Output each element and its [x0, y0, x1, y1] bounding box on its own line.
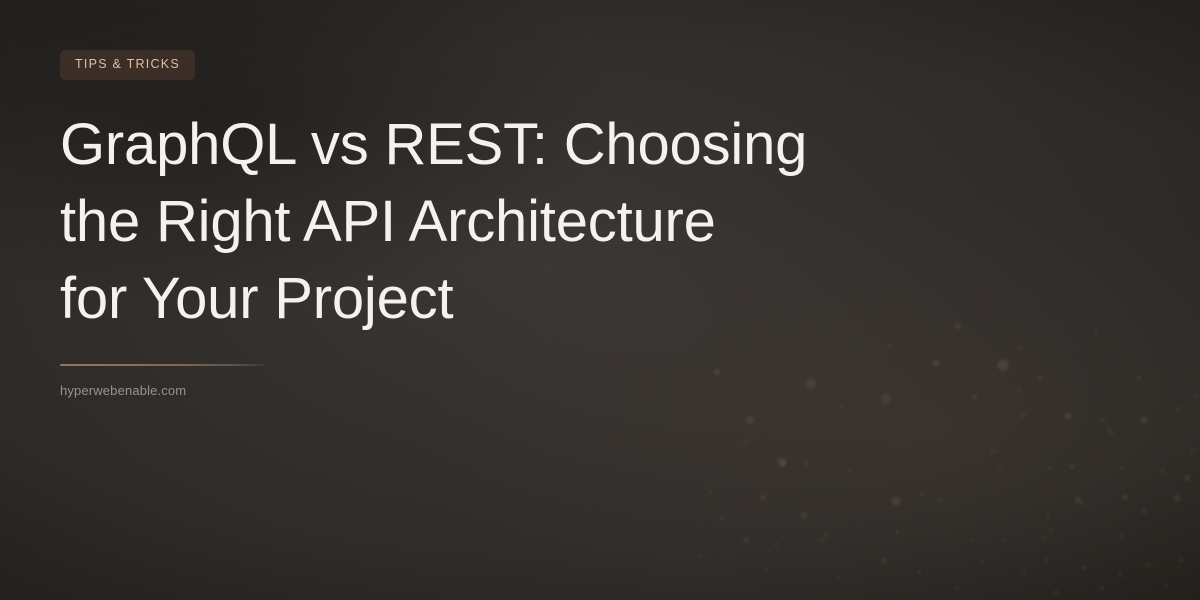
- category-badge[interactable]: TIPS & TRICKS: [60, 50, 195, 80]
- particle-dot: [1046, 513, 1050, 517]
- particle-dot: [971, 538, 975, 542]
- particle-dot: [1017, 388, 1021, 392]
- particle-dot: [1054, 590, 1058, 594]
- particle-dot: [1110, 431, 1113, 434]
- particle-dot: [917, 570, 921, 574]
- particle-dot: [895, 530, 899, 534]
- page-title-line: the Right API Architecture: [60, 183, 860, 260]
- card-content: TIPS & TRICKS GraphQL vs REST: Choosing …: [60, 0, 900, 398]
- particle-dot: [1194, 394, 1198, 398]
- particle-dot: [1141, 508, 1147, 514]
- particle-dot: [997, 359, 1008, 370]
- particle-dot: [1043, 535, 1047, 539]
- particle-dot: [1048, 466, 1052, 470]
- site-url-label: hyperwebenable.com: [60, 383, 900, 398]
- particle-dot: [746, 416, 754, 424]
- particle-dot: [1038, 376, 1042, 380]
- particle-dot: [824, 533, 829, 538]
- particle-dot: [1070, 465, 1075, 470]
- particle-dot: [804, 462, 808, 466]
- particle-dot: [1049, 529, 1053, 533]
- particle-dot: [998, 468, 1002, 472]
- particle-dot: [1065, 413, 1072, 420]
- particle-dot: [720, 516, 724, 520]
- particle-dot: [933, 360, 940, 367]
- particle-dot: [1101, 418, 1105, 422]
- particle-dot: [891, 496, 900, 505]
- accent-divider: [60, 364, 265, 366]
- particle-dot: [1118, 573, 1122, 577]
- particle-dot: [1120, 466, 1124, 470]
- particle-dot: [973, 395, 978, 400]
- particle-dot: [1137, 376, 1141, 380]
- particle-dot: [743, 537, 749, 543]
- particle-dot: [764, 568, 768, 572]
- particle-dot: [1002, 538, 1006, 542]
- particle-dot: [1191, 449, 1195, 453]
- particle-dot: [709, 490, 713, 494]
- page-title-line: GraphQL vs REST: Choosing: [60, 106, 860, 183]
- particle-dot: [801, 512, 808, 519]
- particle-dot: [1164, 584, 1168, 588]
- particle-dot: [881, 558, 887, 564]
- particle-dot: [1174, 495, 1180, 501]
- particle-dot: [1122, 494, 1128, 500]
- particle-dot: [847, 468, 851, 472]
- particle-dot: [840, 405, 844, 409]
- particle-dot: [1082, 566, 1086, 570]
- particle-dot: [1021, 413, 1026, 418]
- particle-dot: [836, 576, 840, 580]
- particle-dot: [1044, 558, 1048, 562]
- particle-dot: [1094, 330, 1098, 334]
- particle-dot: [980, 560, 984, 564]
- particle-dot: [1120, 534, 1124, 538]
- particle-dot: [1100, 586, 1104, 590]
- particle-dot: [1018, 346, 1022, 350]
- particle-dot: [1184, 475, 1190, 481]
- particle-dot: [919, 492, 923, 496]
- particle-dot: [820, 538, 824, 542]
- particle-dot: [1176, 407, 1181, 412]
- page-title-line: for Your Project: [60, 260, 860, 337]
- particle-dot: [780, 460, 786, 466]
- particle-dot: [1179, 558, 1183, 562]
- particle-dot: [774, 542, 778, 546]
- particle-dot: [955, 323, 962, 330]
- particle-dot: [1161, 469, 1165, 473]
- particle-dot: [1021, 571, 1025, 575]
- particle-dot: [698, 554, 702, 558]
- particle-dot: [991, 449, 995, 453]
- page-title: GraphQL vs REST: Choosing the Right API …: [60, 106, 860, 337]
- particle-dot: [760, 495, 766, 501]
- particle-dot: [938, 498, 942, 502]
- particle-dot: [1079, 501, 1083, 505]
- particle-dot: [1107, 429, 1111, 433]
- blog-title-card: TIPS & TRICKS GraphQL vs REST: Choosing …: [0, 0, 1200, 600]
- particle-dot: [1146, 563, 1150, 567]
- particle-dot: [955, 586, 959, 590]
- particle-dot: [743, 441, 747, 445]
- particle-dot: [1140, 416, 1147, 423]
